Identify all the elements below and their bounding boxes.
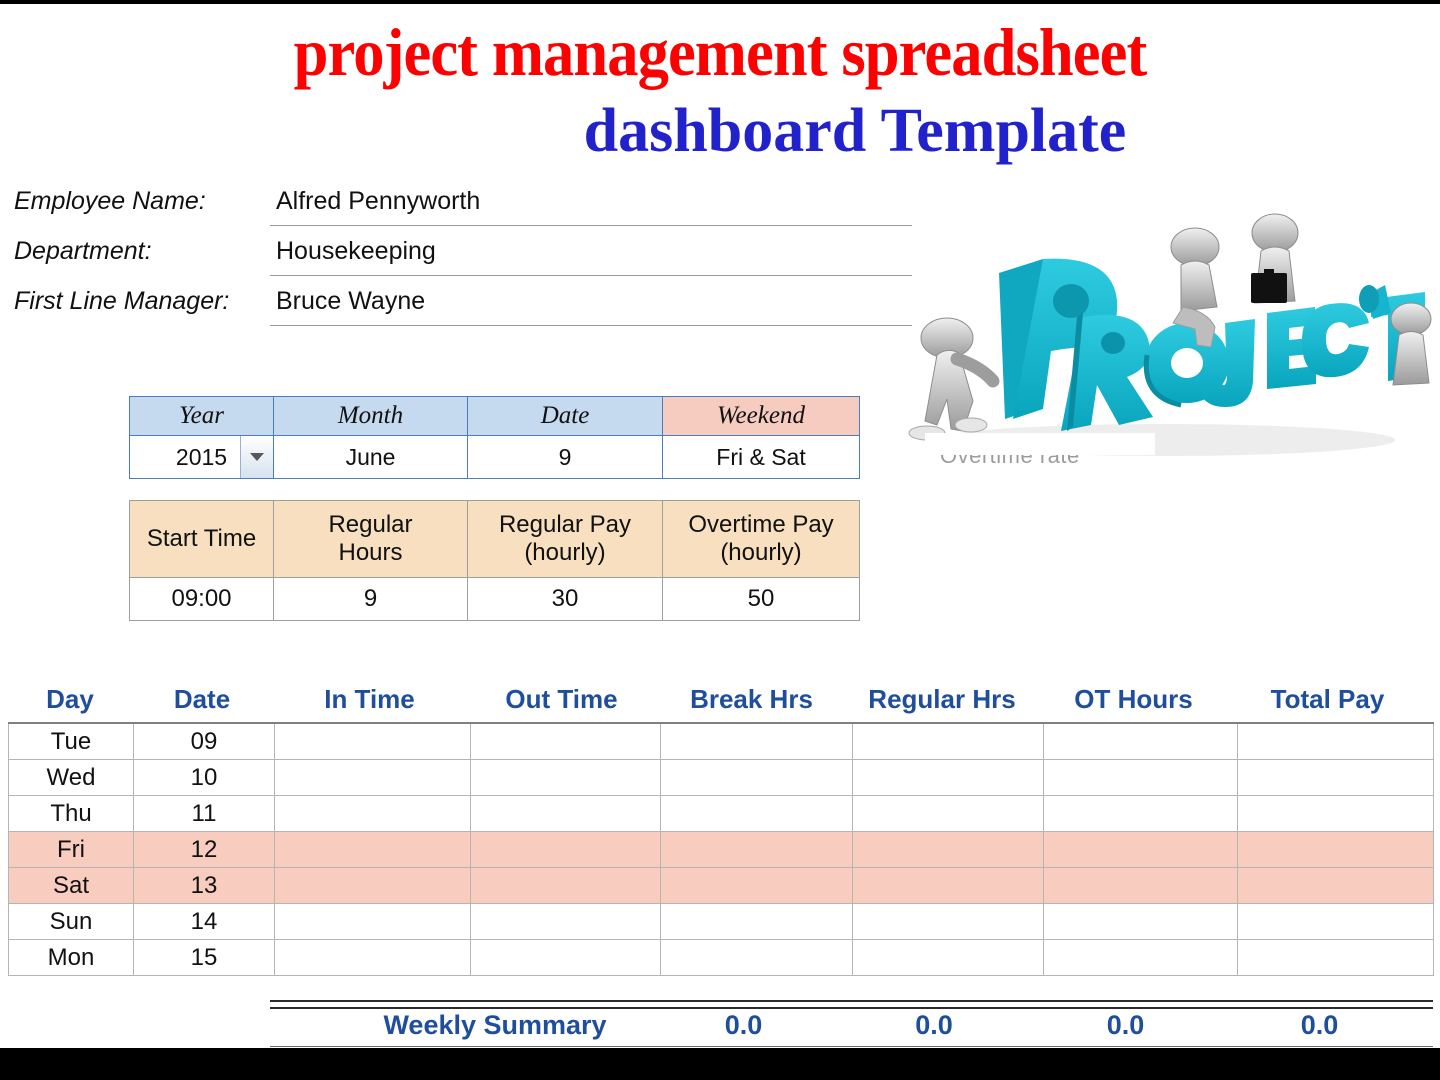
summary-regular-hrs: 0.0 (839, 1010, 1029, 1041)
timesheet-header-row: Day Date In Time Out Time Break Hrs Regu… (8, 684, 1433, 720)
manager-value[interactable]: Bruce Wayne (276, 287, 425, 316)
manager-label: First Line Manager: (14, 287, 229, 316)
cell-day: Sun (9, 904, 134, 940)
cell-day: Thu (9, 796, 134, 832)
cell-out[interactable] (471, 760, 661, 796)
cell-out[interactable] (471, 723, 661, 760)
summary-bottom-rule (270, 1046, 1433, 1047)
employee-info-block: Employee Name: Alfred Pennyworth Departm… (14, 185, 914, 335)
chevron-down-icon[interactable] (240, 436, 273, 478)
col-header-date: Date (132, 684, 272, 715)
header-overtime-pay: Overtime Pay (hourly) (663, 501, 860, 578)
department-label: Department: (14, 237, 152, 266)
cell-break[interactable] (661, 904, 853, 940)
header-overtime-pay-line1: Overtime Pay (663, 511, 859, 539)
cell-regular[interactable] (853, 723, 1044, 760)
cell-date: 12 (134, 832, 275, 868)
cell-date: 14 (134, 904, 275, 940)
cell-break[interactable] (661, 868, 853, 904)
cell-in[interactable] (275, 940, 471, 976)
cell-total[interactable] (1238, 796, 1434, 832)
cell-day: Sat (9, 868, 134, 904)
summary-top-rule (270, 1000, 1433, 1009)
cell-total[interactable] (1238, 723, 1434, 760)
cell-date: 10 (134, 760, 275, 796)
cell-out[interactable] (471, 832, 661, 868)
header-regular-pay-line1: Regular Pay (468, 511, 662, 539)
header-regular-hours-line2: Hours (274, 539, 467, 567)
cell-ot[interactable] (1044, 832, 1238, 868)
table-row[interactable]: Fri12 (9, 832, 1434, 868)
cell-ot[interactable] (1044, 760, 1238, 796)
timesheet-grid[interactable]: Tue09Wed10Thu11Fri12Sat13Sun14Mon15 (8, 722, 1434, 976)
cell-total[interactable] (1238, 760, 1434, 796)
header-regular-pay: Regular Pay (hourly) (468, 501, 663, 578)
title-dashboard-word: dashboard (584, 97, 867, 165)
cell-total[interactable] (1238, 832, 1434, 868)
cell-total[interactable] (1238, 940, 1434, 976)
cell-date: 15 (134, 940, 275, 976)
start-time-value[interactable]: 09:00 (130, 578, 274, 621)
col-header-ot-hours: OT Hours (1037, 684, 1230, 715)
cell-in[interactable] (275, 904, 471, 940)
col-header-total-pay: Total Pay (1230, 684, 1425, 715)
month-value[interactable]: June (274, 436, 468, 479)
cell-day: Tue (9, 723, 134, 760)
cell-in[interactable] (275, 723, 471, 760)
overtime-pay-value[interactable]: 50 (663, 578, 860, 621)
summary-ot-hours: 0.0 (1029, 1010, 1222, 1041)
header-regular-pay-line2: (hourly) (468, 539, 662, 567)
summary-break-hrs: 0.0 (648, 1010, 839, 1041)
header-date: Date (468, 397, 663, 436)
col-header-day: Day (8, 684, 132, 715)
top-black-bar (0, 0, 1440, 4)
cell-out[interactable] (471, 796, 661, 832)
header-regular-hours: Regular Hours (274, 501, 468, 578)
header-year: Year (130, 397, 274, 436)
title-line-1: project management spreadsheet (58, 10, 1383, 94)
employee-name-row: Employee Name: Alfred Pennyworth (14, 185, 914, 235)
cell-break[interactable] (661, 723, 853, 760)
weekly-summary-label: Weekly Summary (330, 1010, 660, 1041)
title-template-word: Template (881, 97, 1127, 165)
figure-pushing (909, 318, 993, 440)
cell-regular[interactable] (853, 868, 1044, 904)
cell-regular[interactable] (853, 832, 1044, 868)
cell-ot[interactable] (1044, 904, 1238, 940)
cell-out[interactable] (471, 868, 661, 904)
cell-day: Mon (9, 940, 134, 976)
cell-break[interactable] (661, 760, 853, 796)
cell-ot[interactable] (1044, 868, 1238, 904)
caption-occlusion (925, 433, 1155, 455)
employee-name-underline (270, 225, 912, 226)
table-row[interactable]: Thu11 (9, 796, 1434, 832)
timesheet-body: Tue09Wed10Thu11Fri12Sat13Sun14Mon15 (9, 723, 1434, 976)
pay-table-header-row: Start Time Regular Hours Regular Pay (ho… (130, 501, 860, 578)
department-underline (270, 275, 912, 276)
bottom-black-bar (0, 1048, 1440, 1080)
cell-total[interactable] (1238, 904, 1434, 940)
weekend-value[interactable]: Fri & Sat (663, 436, 860, 479)
year-value: 2015 (176, 444, 227, 470)
cell-date: 13 (134, 868, 275, 904)
cell-out[interactable] (471, 904, 661, 940)
cell-regular[interactable] (853, 940, 1044, 976)
cell-total[interactable] (1238, 868, 1434, 904)
cell-in[interactable] (275, 760, 471, 796)
title-line-2: dashboard Template (0, 94, 1440, 168)
cell-out[interactable] (471, 940, 661, 976)
cell-in[interactable] (275, 796, 471, 832)
pay-settings-table: Start Time Regular Hours Regular Pay (ho… (129, 500, 860, 621)
header-start-time: Start Time (130, 501, 274, 578)
pay-table-value-row: 09:00 9 30 50 (130, 578, 860, 621)
cell-in[interactable] (275, 832, 471, 868)
header-overtime-pay-line2: (hourly) (663, 539, 859, 567)
date-table-header-row: Year Month Date Weekend (130, 397, 860, 436)
cell-day: Wed (9, 760, 134, 796)
manager-row: First Line Manager: Bruce Wayne (14, 285, 914, 335)
table-row[interactable]: Mon15 (9, 940, 1434, 976)
date-table-value-row: 2015 June 9 Fri & Sat (130, 436, 860, 479)
employee-name-label: Employee Name: (14, 187, 206, 216)
col-header-out-time: Out Time (467, 684, 656, 715)
cell-ot[interactable] (1044, 796, 1238, 832)
col-header-regular-hrs: Regular Hrs (847, 684, 1037, 715)
col-header-in-time: In Time (272, 684, 467, 715)
date-settings-table: Year Month Date Weekend 2015 June 9 Fri … (129, 396, 860, 479)
cell-break[interactable] (661, 796, 853, 832)
department-value[interactable]: Housekeeping (276, 237, 436, 266)
cell-ot[interactable] (1044, 723, 1238, 760)
cell-regular[interactable] (853, 904, 1044, 940)
page-title: project management spreadsheet dashboard… (0, 10, 1440, 168)
header-regular-hours-line1: Regular (274, 511, 467, 539)
cell-in[interactable] (275, 868, 471, 904)
table-row[interactable]: Tue09 (9, 723, 1434, 760)
regular-hours-value[interactable]: 9 (274, 578, 468, 621)
project-artwork-image: Overtime rate (895, 195, 1440, 485)
header-weekend: Weekend (663, 397, 860, 436)
table-row[interactable]: Wed10 (9, 760, 1434, 796)
cell-ot[interactable] (1044, 940, 1238, 976)
year-select-cell[interactable]: 2015 (130, 436, 274, 479)
cell-regular[interactable] (853, 760, 1044, 796)
cell-date: 09 (134, 723, 275, 760)
table-row[interactable]: Sat13 (9, 868, 1434, 904)
summary-total-pay: 0.0 (1222, 1010, 1417, 1041)
table-row[interactable]: Sun14 (9, 904, 1434, 940)
cell-break[interactable] (661, 832, 853, 868)
header-month: Month (274, 397, 468, 436)
cell-date: 11 (134, 796, 275, 832)
letter-C (1302, 303, 1369, 377)
cell-regular[interactable] (853, 796, 1044, 832)
employee-name-value[interactable]: Alfred Pennyworth (276, 187, 480, 216)
department-row: Department: Housekeeping (14, 235, 914, 285)
col-header-break-hrs: Break Hrs (656, 684, 847, 715)
cell-break[interactable] (661, 940, 853, 976)
figure-standing-briefcase (1251, 214, 1298, 303)
manager-underline (270, 325, 912, 326)
cell-day: Fri (9, 832, 134, 868)
regular-pay-value[interactable]: 30 (468, 578, 663, 621)
weekly-summary-row: Weekly Summary 0.0 0.0 0.0 0.0 (0, 1010, 1440, 1050)
date-value[interactable]: 9 (468, 436, 663, 479)
